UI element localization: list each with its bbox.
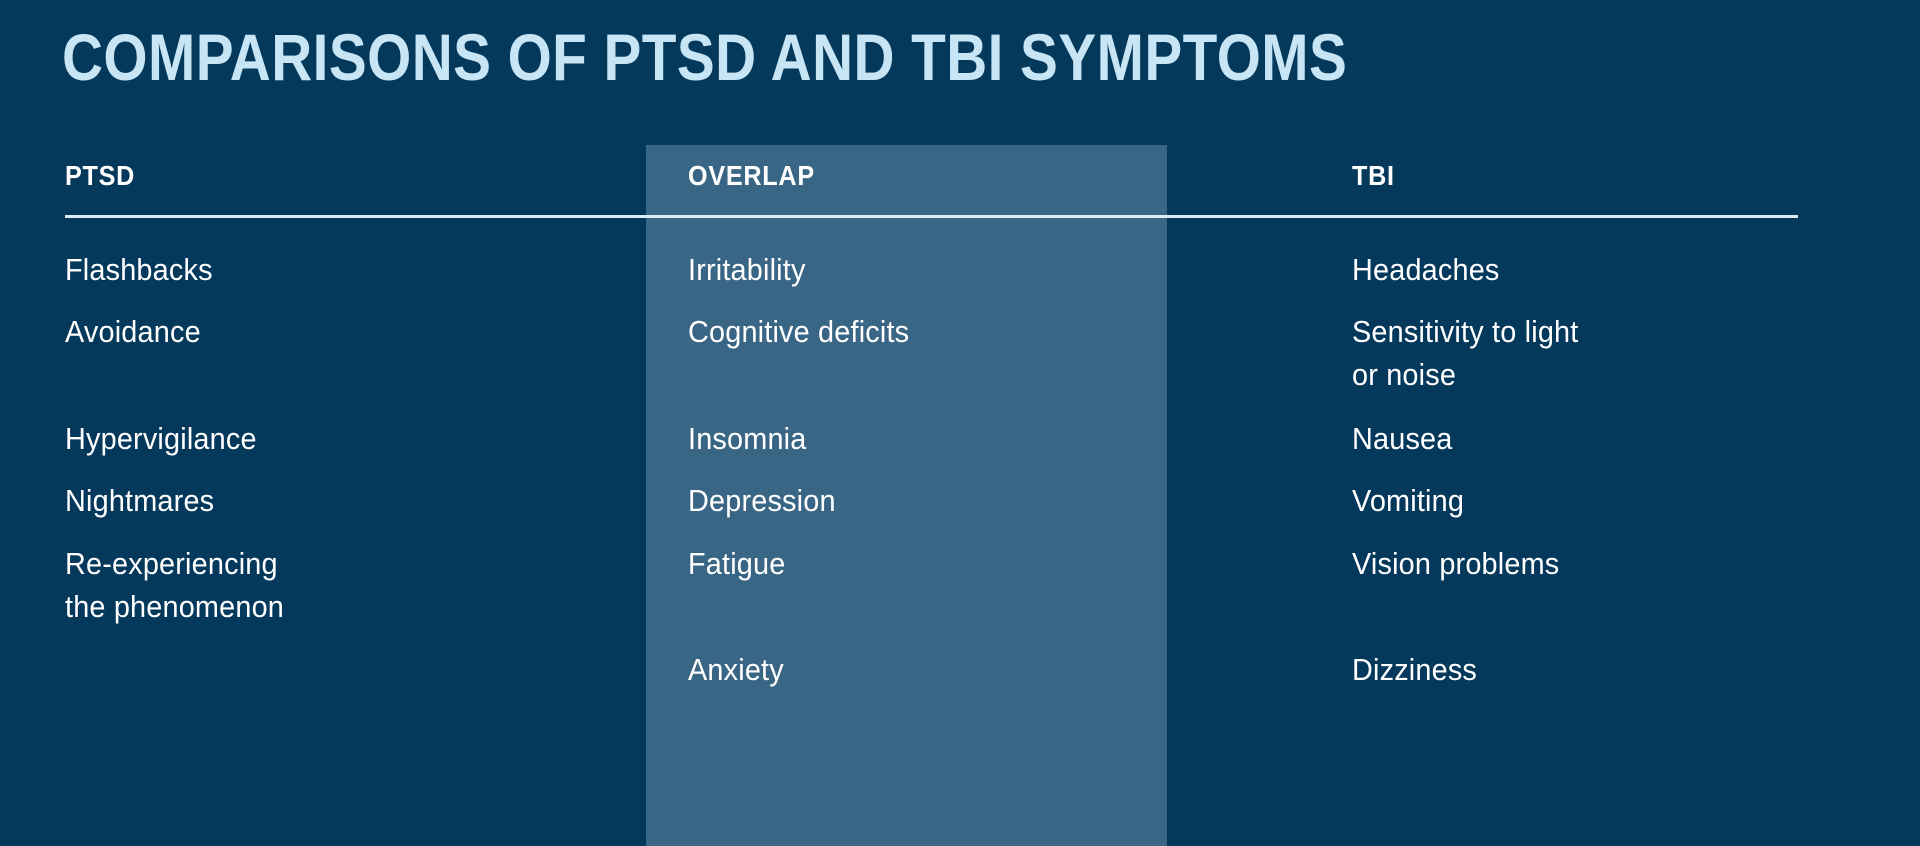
column-header-overlap: OVERLAP [688, 160, 815, 192]
list-item: Hypervigilance [65, 417, 257, 460]
list-item: Re-experiencing the phenomenon [65, 542, 284, 628]
list-item: Insomnia [688, 417, 806, 460]
column-header-tbi: TBI [1352, 160, 1395, 192]
list-item: Cognitive deficits [688, 310, 909, 353]
column-tbi: TBI Headaches Sensitivity to light or no… [1352, 0, 1812, 846]
list-item: Vomiting [1352, 479, 1464, 522]
comparison-table: PTSD Flashbacks Avoidance Hypervigilance… [0, 0, 1920, 846]
list-item: Flashbacks [65, 248, 213, 291]
list-item: Sensitivity to light or noise [1352, 310, 1578, 396]
list-item: Vision problems [1352, 542, 1559, 585]
list-item: Avoidance [65, 310, 201, 353]
list-item: Dizziness [1352, 648, 1477, 691]
column-ptsd: PTSD Flashbacks Avoidance Hypervigilance… [65, 0, 625, 846]
list-item: Fatigue [688, 542, 785, 585]
infographic-root: COMPARISONS OF PTSD AND TBI SYMPTOMS PTS… [0, 0, 1920, 846]
column-header-ptsd: PTSD [65, 160, 135, 192]
list-item: Nausea [1352, 417, 1452, 460]
list-item: Irritability [688, 248, 806, 291]
list-item: Depression [688, 479, 836, 522]
list-item: Headaches [1352, 248, 1500, 291]
list-item: Nightmares [65, 479, 214, 522]
list-item: Anxiety [688, 648, 784, 691]
column-overlap: OVERLAP Irritability Cognitive deficits … [688, 0, 1148, 846]
